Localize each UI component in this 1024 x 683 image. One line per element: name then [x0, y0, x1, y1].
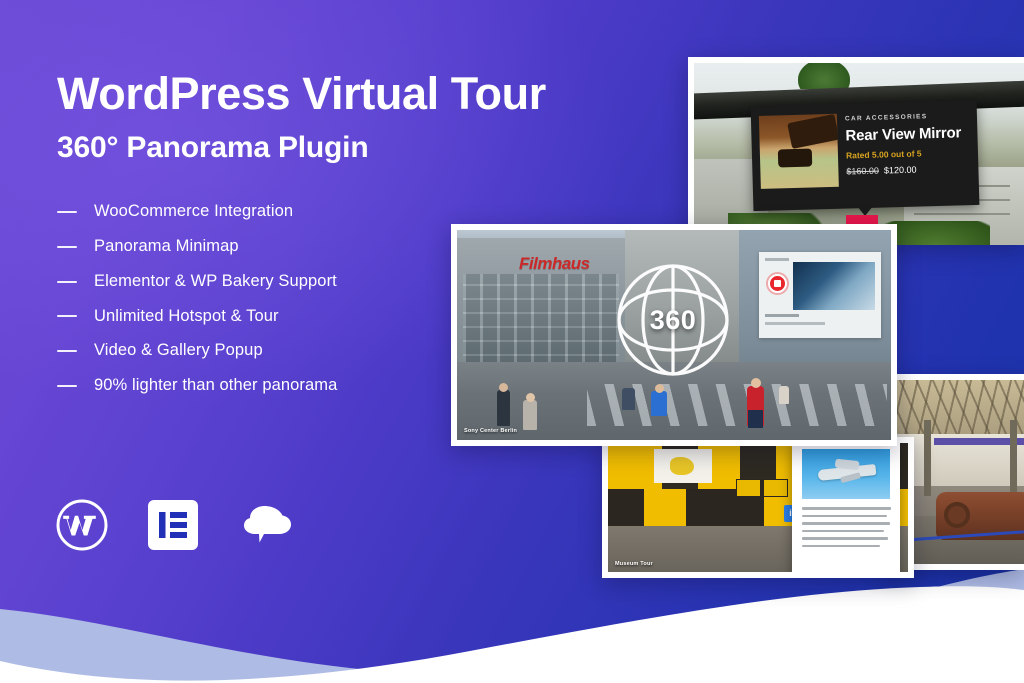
woocommerce-product-card[interactable]: CAR ACCESSORIES Rear View Mirror Rated 5… [688, 57, 1024, 245]
product-rating: Rated 5.00 out of 5 [846, 147, 972, 161]
product-thumbnail [759, 114, 839, 189]
list-item: Video & Gallery Popup [57, 341, 487, 361]
dash-icon [57, 211, 77, 213]
product-name: Rear View Mirror [845, 124, 971, 145]
dash-icon [57, 315, 77, 317]
museum-photo: i Museum Tour [608, 443, 908, 572]
panorama-caption: Sony Center Berlin [464, 428, 517, 434]
feature-label: Unlimited Hotspot & Tour [94, 307, 279, 327]
list-item: WooCommerce Integration [57, 202, 487, 222]
dash-icon [57, 246, 77, 248]
hero-text-column: WordPress Virtual Tour 360° Panorama Plu… [57, 70, 487, 411]
museum-info-popup[interactable] [792, 443, 900, 572]
page-subtitle: 360° Panorama Plugin [57, 131, 487, 165]
panorama-signage: Filmhaus [519, 254, 590, 274]
airplane-shape [818, 464, 877, 481]
woocommerce-photo: CAR ACCESSORIES Rear View Mirror Rated 5… [694, 63, 1024, 245]
hangar-pillar [924, 420, 931, 496]
hangar-pillar [1010, 420, 1017, 496]
pedestrian [622, 388, 635, 410]
feature-label: Elementor & WP Bakery Support [94, 272, 337, 292]
banner-image [793, 262, 875, 310]
museum-poster [654, 449, 712, 483]
museum-tour-card[interactable]: i Museum Tour [602, 437, 914, 578]
elementor-logo-label: Elementor [200, 498, 201, 499]
dash-icon [57, 350, 77, 352]
feature-label: Video & Gallery Popup [94, 341, 263, 361]
pedestrian [747, 386, 764, 426]
product-price-old: $160.00 [846, 166, 879, 177]
feature-label: WooCommerce Integration [94, 202, 293, 222]
wordpress-logo-icon: WordPress [55, 498, 109, 557]
360-sphere-label: 360 [615, 262, 731, 378]
wpbakery-logo-icon: WP Bakery Page Builder [237, 500, 293, 555]
hangar-roof [890, 380, 1024, 434]
pedestrian [651, 391, 667, 416]
list-item: Unlimited Hotspot & Tour [57, 307, 487, 327]
technology-logos: WordPress Elementor WP Bakery Page Build… [55, 498, 293, 557]
panorama-info-banner [759, 252, 881, 338]
airplane-image [802, 449, 890, 499]
product-info: CAR ACCESSORIES Rear View Mirror Rated 5… [845, 112, 973, 176]
pedestrian [523, 400, 537, 430]
360-sphere-icon[interactable]: 360 [615, 262, 731, 378]
product-popup-panel[interactable]: CAR ACCESSORIES Rear View Mirror Rated 5… [751, 100, 980, 211]
product-price-new: $120.00 [884, 165, 917, 176]
popup-body-text [802, 507, 891, 552]
product-category: CAR ACCESSORIES [845, 112, 971, 123]
wordpress-logo-label: WordPress [109, 498, 110, 499]
list-item: Elementor & WP Bakery Support [57, 272, 487, 292]
panorama-glass-facade [463, 274, 619, 370]
list-item: Panorama Minimap [57, 237, 487, 257]
feature-label: Panorama Minimap [94, 237, 239, 257]
feature-label: 90% lighter than other panorama [94, 376, 337, 396]
museum-window [736, 479, 788, 497]
museum-caption: Museum Tour [615, 561, 653, 567]
dash-icon [57, 385, 77, 387]
panorama-hotspot-marker[interactable] [768, 274, 787, 293]
product-price: $160.00$120.00 [846, 163, 972, 177]
pedestrian [779, 386, 789, 404]
page-title: WordPress Virtual Tour [57, 70, 487, 119]
dash-icon [57, 281, 77, 283]
feature-list: WooCommerce Integration Panorama Minimap… [57, 202, 487, 396]
woo-foliage [798, 63, 850, 89]
list-item: 90% lighter than other panorama [57, 376, 487, 396]
panorama-360-card[interactable]: Filmhaus 360 [451, 224, 897, 446]
elementor-logo-icon: Elementor [146, 498, 200, 557]
panorama-photo: Filmhaus 360 [457, 230, 891, 440]
pedestrian [497, 390, 510, 426]
